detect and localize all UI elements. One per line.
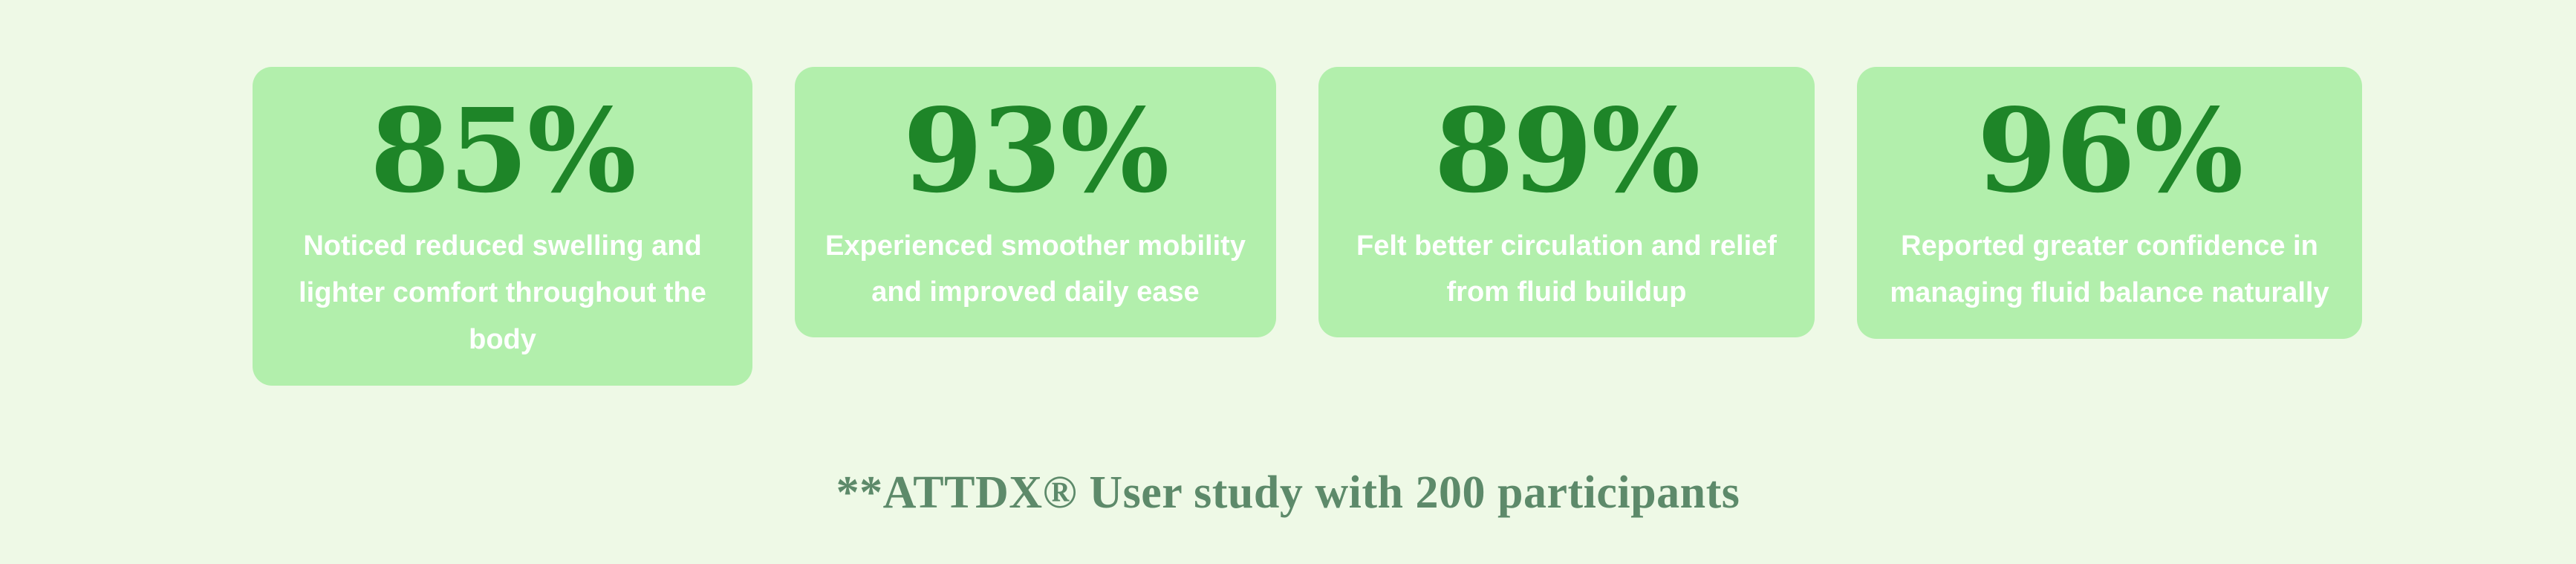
- stat-value: 89%: [1434, 92, 1700, 210]
- stat-card: 85% Noticed reduced swelling and lighter…: [253, 67, 752, 386]
- study-footnote: **ATTDX® User study with 200 participant…: [0, 464, 2576, 522]
- stat-description: Experienced smoother mobility and improv…: [814, 223, 1257, 315]
- stat-banner: 85% Noticed reduced swelling and lighter…: [0, 0, 2576, 564]
- stat-description: Felt better circulation and relief from …: [1338, 223, 1795, 315]
- stat-value: 93%: [903, 92, 1168, 210]
- stat-description: Noticed reduced swelling and lighter com…: [272, 223, 733, 363]
- stat-value: 85%: [370, 92, 635, 210]
- stat-description: Reported greater confidence in managing …: [1876, 223, 2343, 317]
- stat-value: 96%: [1977, 92, 2242, 210]
- stat-card: 93% Experienced smoother mobility and im…: [795, 67, 1276, 337]
- stat-card-group: 85% Noticed reduced swelling and lighter…: [253, 67, 2362, 386]
- stat-card: 89% Felt better circulation and relief f…: [1318, 67, 1815, 337]
- stat-card: 96% Reported greater confidence in manag…: [1857, 67, 2362, 339]
